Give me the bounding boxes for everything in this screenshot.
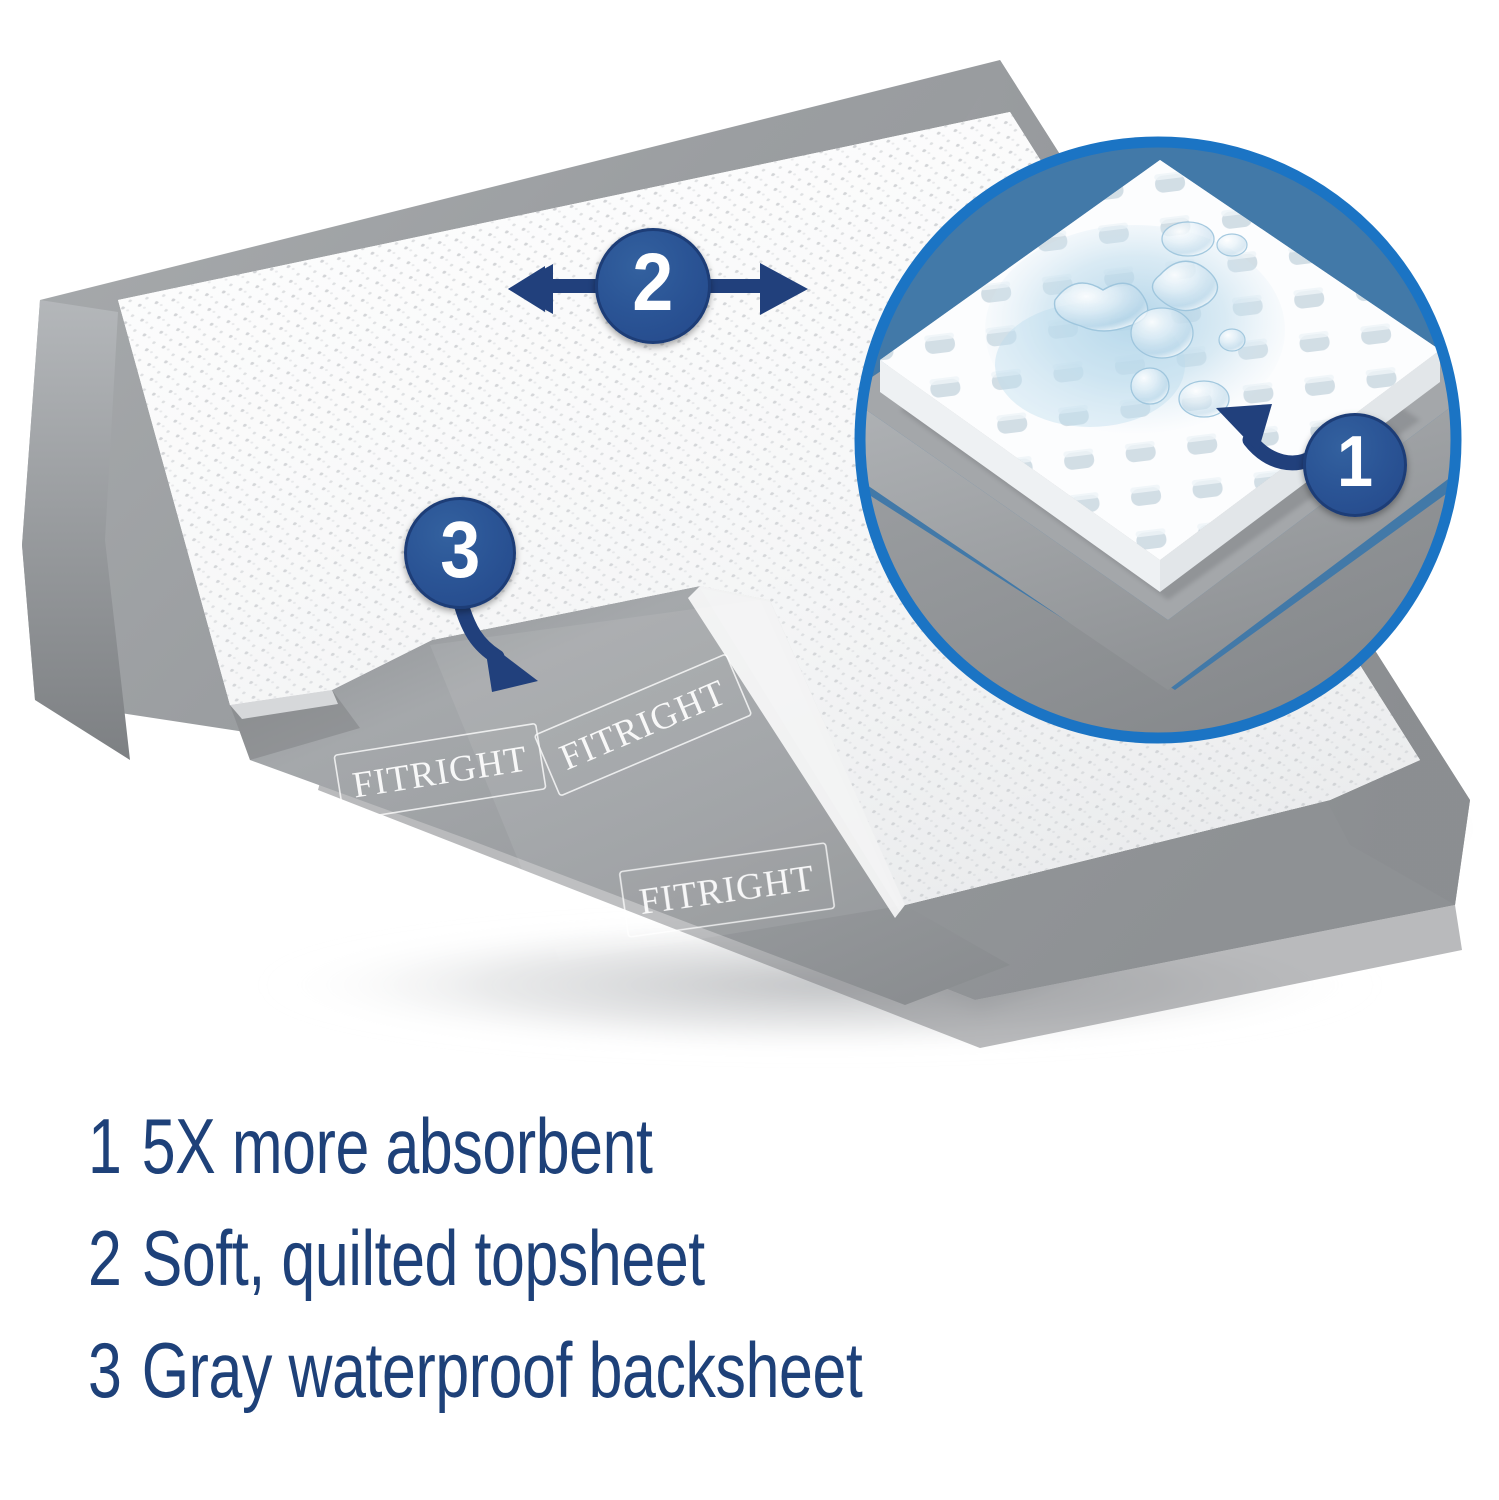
legend-item-1-text: 5X more absorbent [142,1102,653,1190]
callout-badge-1-label: 1 [1337,421,1373,503]
legend-item-2: 2Soft, quilted topsheet [88,1202,1102,1314]
legend-item-1: 15X more absorbent [88,1090,1102,1202]
feature-legend: 15X more absorbent 2Soft, quilted topshe… [88,1090,1388,1426]
callout-badge-1[interactable]: 1 [1303,413,1407,517]
legend-item-3: 3Gray waterproof backsheet [88,1314,1102,1426]
callout-badge-2-label: 2 [632,236,673,330]
callout-badge-2[interactable]: 2 [595,228,711,344]
callout-badge-3-label: 3 [440,504,480,596]
legend-item-3-text: Gray waterproof backsheet [142,1326,863,1414]
infographic-root: FITRIGHT FITRIGHT FITRIGHT [0,0,1499,1500]
underpad-graphic: FITRIGHT FITRIGHT FITRIGHT [0,0,1499,1075]
callout-badge-3[interactable]: 3 [404,497,516,609]
legend-item-1-number: 1 [88,1102,121,1190]
legend-item-2-number: 2 [88,1214,121,1302]
legend-item-3-number: 3 [88,1326,121,1414]
product-illustration: FITRIGHT FITRIGHT FITRIGHT [0,0,1499,1075]
legend-item-2-text: Soft, quilted topsheet [142,1214,705,1302]
